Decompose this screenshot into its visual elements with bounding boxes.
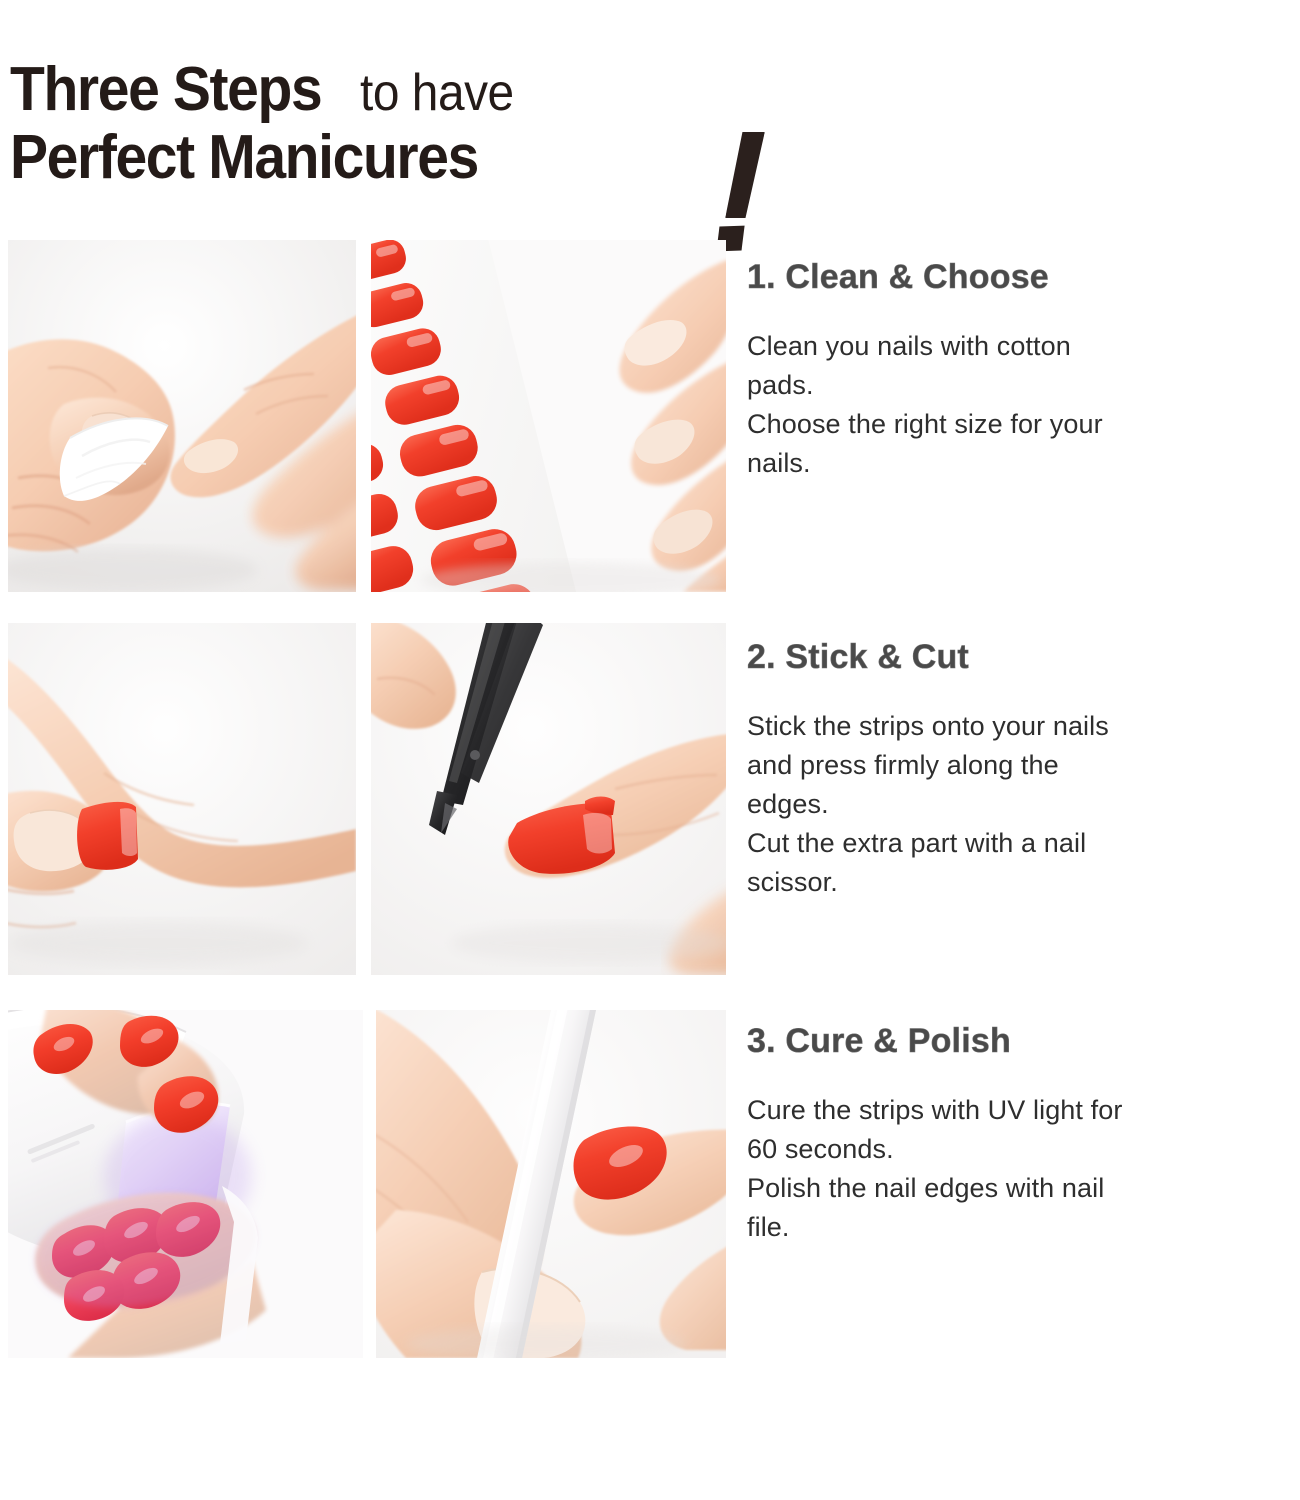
step-block-2: 2. Stick & Cut Stick the strips onto you… (747, 638, 1295, 901)
illustration-uv-lamp (8, 1010, 363, 1358)
illustration-strip-sheet (371, 240, 726, 592)
step-block-3: 3. Cure & Polish Cure the strips with UV… (747, 1022, 1295, 1247)
step-2-line-3: edges. (747, 785, 1295, 824)
step-2-line-2: and press firmly along the (747, 746, 1295, 785)
photo-cut-extra-with-scissor (371, 623, 726, 975)
page-title: Three Stepsto have Perfect Manicures (10, 60, 790, 210)
step-2-line-5: scissor. (747, 863, 1295, 902)
photo-row-step-3 (8, 1010, 726, 1358)
step-block-1: 1. Clean & Choose Clean you nails with c… (747, 258, 1295, 483)
exclamation-bar (725, 132, 765, 218)
step-3-heading: 3. Cure & Polish (747, 1022, 1295, 1061)
title-strong-three-steps: Three Steps (10, 60, 321, 120)
photo-choose-strip-size (371, 240, 726, 592)
illustration-cut-with-scissor (371, 623, 726, 975)
step-1-line-2: pads. (747, 366, 1295, 405)
photo-row-step-2 (8, 623, 726, 975)
step-3-line-1: Cure the strips with UV light for (747, 1091, 1295, 1130)
step-1-line-1: Clean you nails with cotton (747, 327, 1295, 366)
photo-polish-edges-with-file (376, 1010, 726, 1358)
step-3-line-2: 60 seconds. (747, 1130, 1295, 1169)
step-3-line-4: file. (747, 1208, 1295, 1247)
photo-cure-under-uv-lamp (8, 1010, 363, 1358)
illustration-clean-nail (8, 240, 356, 592)
step-3-line-3: Polish the nail edges with nail (747, 1169, 1295, 1208)
step-1-line-4: nails. (747, 444, 1295, 483)
step-2-line-1: Stick the strips onto your nails (747, 707, 1295, 746)
title-light-to-have: to have (360, 69, 514, 119)
step-1-heading: 1. Clean & Choose (747, 258, 1295, 297)
title-strong-perfect-manicures: Perfect Manicures (10, 128, 478, 188)
step-3-body: Cure the strips with UV light for 60 sec… (747, 1091, 1295, 1247)
title-line-2: Perfect Manicures (10, 128, 519, 188)
step-2-body: Stick the strips onto your nails and pre… (747, 707, 1295, 901)
photo-clean-nail-with-cotton-pad (8, 240, 356, 592)
step-2-heading: 2. Stick & Cut (747, 638, 1295, 677)
title-line-1: Three Stepsto have (10, 60, 527, 120)
step-1-body: Clean you nails with cotton pads. Choose… (747, 327, 1295, 483)
instruction-photo-grid (8, 240, 726, 1358)
photo-row-step-1 (8, 240, 726, 592)
step-1-line-3: Choose the right size for your (747, 405, 1295, 444)
step-2-line-4: Cut the extra part with a nail (747, 824, 1295, 863)
illustration-nail-file (376, 1010, 726, 1358)
illustration-stick-strip (8, 623, 356, 975)
photo-stick-strip-on-nail (8, 623, 356, 975)
